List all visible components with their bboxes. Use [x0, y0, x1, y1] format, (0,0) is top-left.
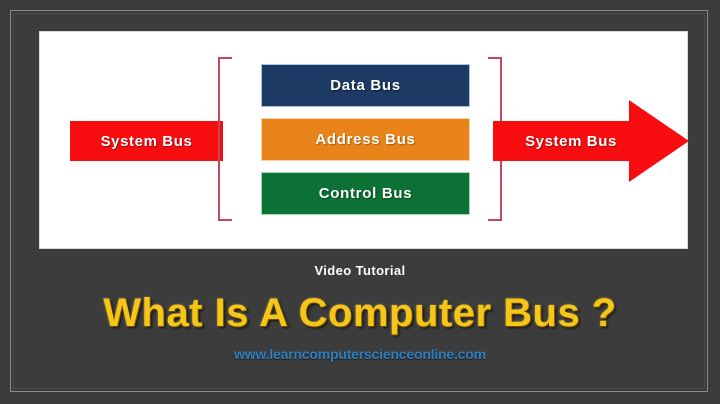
data-bus-label: Data Bus — [330, 77, 401, 94]
caption-area: Video Tutorial What Is A Computer Bus ? … — [13, 252, 707, 390]
page-title: What Is A Computer Bus ? — [13, 292, 707, 334]
address-bus-box: Address Bus — [261, 118, 470, 161]
video-tutorial-subtitle: Video Tutorial — [13, 263, 707, 278]
control-bus-box: Control Bus — [261, 172, 470, 215]
bracket-left-icon — [218, 57, 232, 221]
address-bus-label: Address Bus — [315, 131, 415, 148]
system-bus-left-label: System Bus — [101, 133, 193, 150]
system-bus-right-label: System Bus — [501, 100, 641, 182]
bus-stack: Data Bus Address Bus Control Bus — [261, 64, 470, 215]
website-url: www.learncomputerscienceonline.com — [13, 346, 707, 362]
data-bus-box: Data Bus — [261, 64, 470, 107]
system-bus-right-arrow: System Bus — [493, 100, 689, 182]
screenshot-root: System Bus Data Bus Address Bus Control … — [0, 0, 720, 404]
diagram-panel: System Bus Data Bus Address Bus Control … — [39, 31, 688, 249]
system-bus-left-bar: System Bus — [70, 121, 223, 161]
control-bus-label: Control Bus — [319, 185, 413, 202]
